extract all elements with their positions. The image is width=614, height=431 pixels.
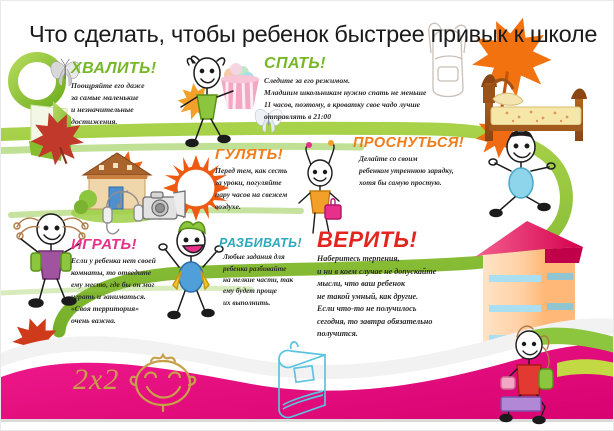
advice-line: и ни в коем случае не допускайте: [317, 266, 436, 279]
advice-line: на мелкие части, так: [223, 275, 302, 286]
advice-line: Следите за его режимом.: [264, 75, 426, 87]
advice-line: хотя бы самую простую.: [359, 177, 464, 189]
advice-heading-prosnutsya: ПРОСНУТЬСЯ!: [353, 136, 464, 151]
stick-girl-orange-icon: [299, 140, 341, 233]
advice-line: получится.: [317, 328, 436, 341]
advice-line: Младшим школьникам нужно спать не меньше: [264, 87, 426, 99]
advice-line: комнаты, то отведите: [71, 267, 156, 279]
advice-block-gulyat: ГУЛЯТЬ! Перед тем, как сесть за уроки, п…: [215, 147, 287, 213]
stick-girl-green-icon: [181, 56, 233, 146]
doodle-2x2-text: 2x2: [73, 363, 119, 397]
advice-body-prosnutsya: Делайте со своим ребенком утреннюю заряд…: [353, 153, 464, 188]
advice-line: Если что-то не получилось: [317, 303, 436, 316]
advice-line: Любые задания для: [223, 252, 302, 263]
advice-heading-spat: СПАТЬ!: [264, 56, 426, 73]
stick-boy-blue-icon: [489, 131, 555, 217]
advice-body-hvalit: Поощряйте его даже за самые маленькие и …: [71, 80, 157, 129]
advice-block-hvalit: ХВАЛИТЬ! Поощряйте его даже за самые мал…: [71, 61, 157, 128]
advice-heading-razbivat: РАЗБИВАТЬ!: [219, 237, 302, 250]
advice-body-razbivat: Любые задания для ребенка разбивайте на …: [219, 252, 302, 309]
advice-line: и незначительные: [71, 104, 157, 116]
advice-line: сегодня, то завтра обязательно: [317, 316, 436, 329]
advice-body-verit: Наберитесь терпения, и ни в коем случае …: [317, 253, 436, 341]
advice-line: достижения.: [71, 116, 157, 128]
advice-line: за уроки, погуляйте: [215, 177, 287, 189]
advice-line: мысли, что ваш ребенок: [317, 278, 436, 291]
stick-girl-red-icon: [500, 326, 553, 423]
advice-line: Поощряйте его даже: [71, 80, 157, 92]
advice-block-verit: ВЕРИТЬ! Наберитесь терпения, и ни в коем…: [317, 228, 436, 341]
advice-line: ему место, где бы он мог: [71, 279, 156, 291]
advice-line: ребенка разбивайте: [223, 264, 302, 275]
advice-heading-hvalit: ХВАЛИТЬ!: [71, 61, 157, 78]
advice-line: их выполнить.: [223, 298, 302, 309]
advice-heading-verit: ВЕРИТЬ!: [317, 228, 436, 251]
advice-line: Если у ребенка нет своей: [71, 255, 156, 267]
page-title: Что сделать, чтобы ребенок быстрее привы…: [29, 21, 597, 48]
advice-block-razbivat: РАЗБИВАТЬ! Любые задания для ребенка раз…: [219, 237, 302, 309]
advice-body-gulyat: Перед тем, как сесть за уроки, погуляйте…: [215, 165, 287, 213]
infographic-poster: Что сделать, чтобы ребенок быстрее привы…: [0, 0, 614, 431]
advice-line: воздухе.: [215, 201, 287, 213]
advice-body-spat: Следите за его режимом. Младшим школьник…: [264, 75, 426, 123]
advice-block-spat: СПАТЬ! Следите за его режимом. Младшим ш…: [264, 56, 426, 123]
advice-line: Наберитесь терпения,: [317, 253, 436, 266]
advice-heading-igrat: ИГРАТЬ!: [71, 237, 156, 253]
advice-line: ребенком утреннюю зарядку,: [359, 165, 464, 177]
advice-line: играть и заниматься.: [71, 291, 156, 303]
advice-line: не такой умный, как другие.: [317, 291, 436, 304]
stick-boy-yellow-icon: [159, 222, 223, 319]
advice-line: Перед тем, как сесть: [215, 165, 287, 177]
advice-line: ему будет проще: [223, 286, 302, 297]
advice-block-igrat: ИГРАТЬ! Если у ребенка нет своей комнаты…: [71, 237, 156, 327]
advice-line: очень важна.: [71, 315, 156, 327]
advice-line: пару часов на свежем: [215, 189, 287, 201]
advice-line: «Своя территория»: [71, 303, 156, 315]
advice-block-prosnutsya: ПРОСНУТЬСЯ! Делайте со своим ребенком ут…: [353, 136, 464, 188]
advice-line: Делайте со своим: [359, 153, 464, 165]
advice-line: за самые маленькие: [71, 92, 157, 104]
advice-line: отправлять в 21:00: [264, 111, 426, 123]
advice-line: 11 часов, поэтому, в кроватку свое чадо …: [264, 99, 426, 111]
advice-heading-gulyat: ГУЛЯТЬ!: [215, 147, 287, 163]
advice-body-igrat: Если у ребенка нет своей комнаты, то отв…: [71, 255, 156, 327]
